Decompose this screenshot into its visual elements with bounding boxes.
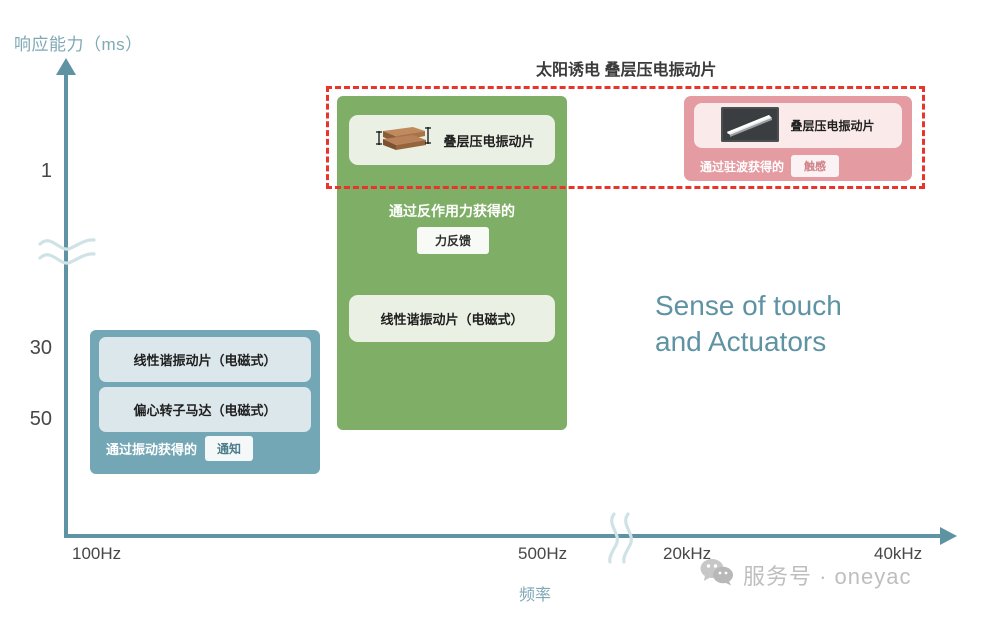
- standing-wave-group-card[interactable]: 叠层压电振动片 通过驻波获得的 触感: [684, 96, 912, 181]
- x-axis-line: [64, 534, 948, 538]
- wechat-icon: [700, 558, 734, 591]
- y-tick-30: 30: [8, 337, 52, 360]
- chart-canvas: 响应能力（ms） 频率 1 30 50 100Hz 500Hz 20kHz 40…: [0, 0, 984, 624]
- watermark-text: 服务号 · oneyac: [743, 559, 912, 591]
- tagline: Sense of touch and Actuators: [655, 288, 842, 360]
- tagline-line-1: Sense of touch: [655, 288, 842, 324]
- tagline-line-2: and Actuators: [655, 324, 842, 360]
- watermark: 服务号 · oneyac: [700, 558, 912, 591]
- y-axis-break-icon: [38, 228, 96, 279]
- force-feedback-chip: 力反馈: [417, 227, 489, 254]
- x-axis-arrow-icon: [940, 527, 957, 545]
- vibration-item-1[interactable]: 偏心转子马达（电磁式）: [99, 387, 311, 432]
- force-feedback-item-1[interactable]: 线性谐振动片（电磁式）: [349, 295, 555, 342]
- x-axis-title: 频率: [519, 581, 551, 605]
- y-tick-50: 50: [8, 408, 52, 431]
- standing-wave-item-0-row[interactable]: 叠层压电振动片: [694, 103, 902, 148]
- standing-wave-caption-row: 通过驻波获得的 触感: [700, 155, 839, 177]
- standing-wave-caption: 通过驻波获得的: [700, 158, 784, 175]
- laminated-piezo-bronze-icon: [369, 122, 431, 159]
- force-feedback-group-card[interactable]: 叠层压电振动片 通过反作用力获得的 力反馈 线性谐振动片（电磁式）: [337, 96, 567, 430]
- vibration-group-card[interactable]: 线性谐振动片（电磁式） 偏心转子马达（电磁式） 通过振动获得的 通知: [90, 330, 320, 474]
- standing-wave-chip: 触感: [791, 155, 839, 177]
- y-axis-title: 响应能力（ms）: [14, 30, 143, 55]
- force-feedback-item-0-label: 叠层压电振动片: [443, 131, 534, 150]
- force-feedback-item-0-row[interactable]: 叠层压电振动片: [349, 115, 555, 165]
- y-axis-line: [64, 72, 68, 538]
- vibration-item-0[interactable]: 线性谐振动片（电磁式）: [99, 337, 311, 382]
- force-feedback-caption: 通过反作用力获得的: [337, 201, 567, 221]
- x-tick-100hz: 100Hz: [72, 544, 121, 564]
- laminated-piezo-rod-photo-icon: [721, 107, 779, 145]
- vibration-caption: 通过振动获得的: [106, 439, 197, 458]
- x-axis-break-icon: [600, 512, 646, 569]
- vibration-caption-row: 通过振动获得的 通知: [106, 436, 253, 461]
- x-tick-500hz: 500Hz: [518, 544, 567, 564]
- y-tick-1: 1: [8, 160, 52, 183]
- highlight-title: 太阳诱电 叠层压电振动片: [536, 56, 716, 80]
- vibration-chip: 通知: [205, 436, 253, 461]
- standing-wave-item-0-label: 叠层压电振动片: [790, 117, 874, 134]
